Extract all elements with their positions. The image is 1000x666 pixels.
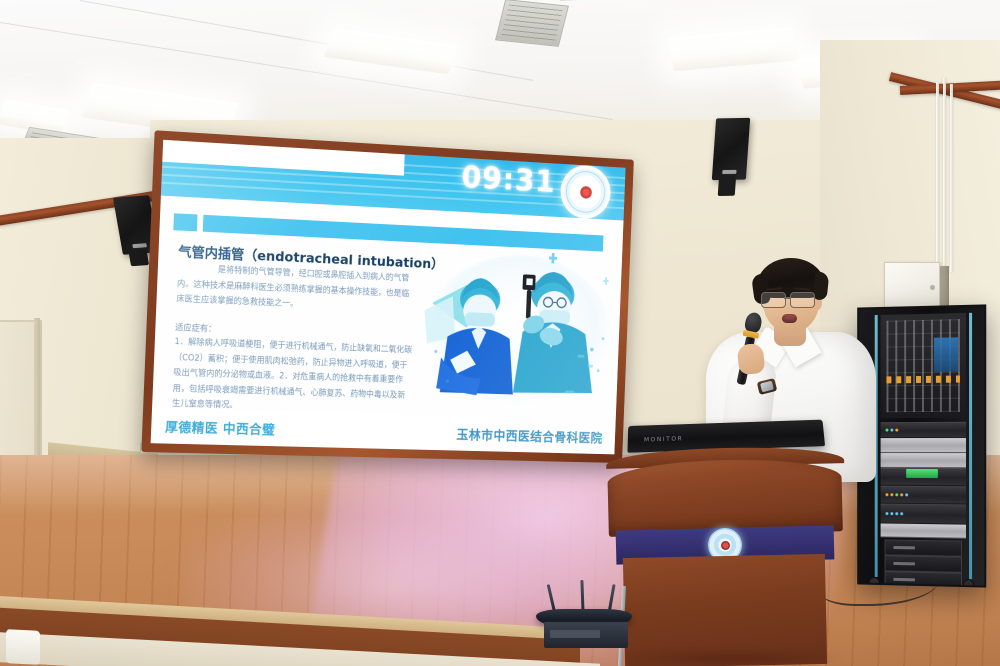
green-lcd-display (906, 469, 938, 478)
power-sequencer[interactable] (881, 486, 966, 505)
slide-footer-right-text: 玉林市中西医结合骨科医院 (456, 424, 603, 446)
glasses-bridge (784, 297, 791, 299)
router-stand-box (544, 622, 628, 648)
floor-object (6, 629, 40, 665)
status-leds (885, 493, 908, 496)
slide-paragraph-2: 1．解除病人呼吸道梗阻，便于进行机械通气，防止缺氧和二氧化碳（CO2）蓄积；便于… (172, 334, 414, 418)
matrix-switcher[interactable] (881, 468, 966, 486)
speaker-badge (722, 170, 736, 174)
presenter-hand (737, 343, 766, 376)
rack-processor[interactable] (881, 504, 966, 525)
ceiling-air-vent-2 (495, 0, 569, 47)
status-leds (885, 429, 898, 432)
wall-conduit-3 (950, 84, 953, 272)
glasses-lens-right (790, 292, 815, 308)
glasses-lens-left (761, 292, 786, 308)
screen-surface[interactable]: 09:31 气管内插管（endotracheal intubation） 是将特… (151, 140, 626, 455)
rack-rail-right (969, 313, 972, 579)
rack-caster-right (963, 579, 974, 588)
control-unit-1[interactable] (881, 438, 966, 453)
podium-front-panel (607, 457, 843, 537)
amplifier-1[interactable] (885, 539, 962, 556)
ceiling-seam (80, 0, 533, 81)
wall-conduit-1 (936, 82, 939, 272)
electrical-panel-box[interactable] (884, 262, 940, 312)
hospital-circular-logo-icon (560, 164, 612, 220)
status-leds (885, 512, 903, 515)
signal-processor[interactable] (881, 422, 966, 438)
monitor-brand-label: MONITOR (644, 436, 683, 444)
slide-body: 气管内插管（endotracheal intubation） 是将特制的气管导管… (152, 234, 622, 421)
mixer-level-leds (886, 376, 960, 384)
ceiling-seam (560, 0, 989, 1)
slide-paragraph-1: 是将特制的气管导管，经口腔或鼻腔插入到病人的气管内。这种技术是麻醉科医生必须熟练… (176, 260, 417, 316)
podium[interactable]: MONITOR (600, 434, 848, 666)
surgeons-intubation-illustration (420, 243, 617, 426)
mixer-display (934, 337, 958, 372)
title-accent-square (173, 213, 197, 231)
presenter-mouth (782, 314, 797, 323)
lecture-hall-photo: 09:31 气管内插管（endotracheal intubation） 是将特… (0, 0, 1000, 666)
slide-footer-left-text: 厚德精医 中西合璧 (165, 416, 276, 438)
slide-clock: 09:31 (461, 160, 556, 200)
podium-shadow (616, 650, 842, 666)
rack-blank-panel (881, 523, 966, 538)
wall-conduit-2 (943, 78, 946, 274)
projection-screen: 09:31 气管内插管（endotracheal intubation） 是将特… (141, 130, 634, 463)
wifi-router[interactable] (536, 592, 632, 626)
control-unit-2[interactable] (881, 453, 966, 468)
speaker-badge (132, 243, 147, 248)
glasses-icon (760, 292, 822, 306)
audio-mixer[interactable] (881, 313, 966, 418)
wall-speaker-right (712, 118, 750, 180)
